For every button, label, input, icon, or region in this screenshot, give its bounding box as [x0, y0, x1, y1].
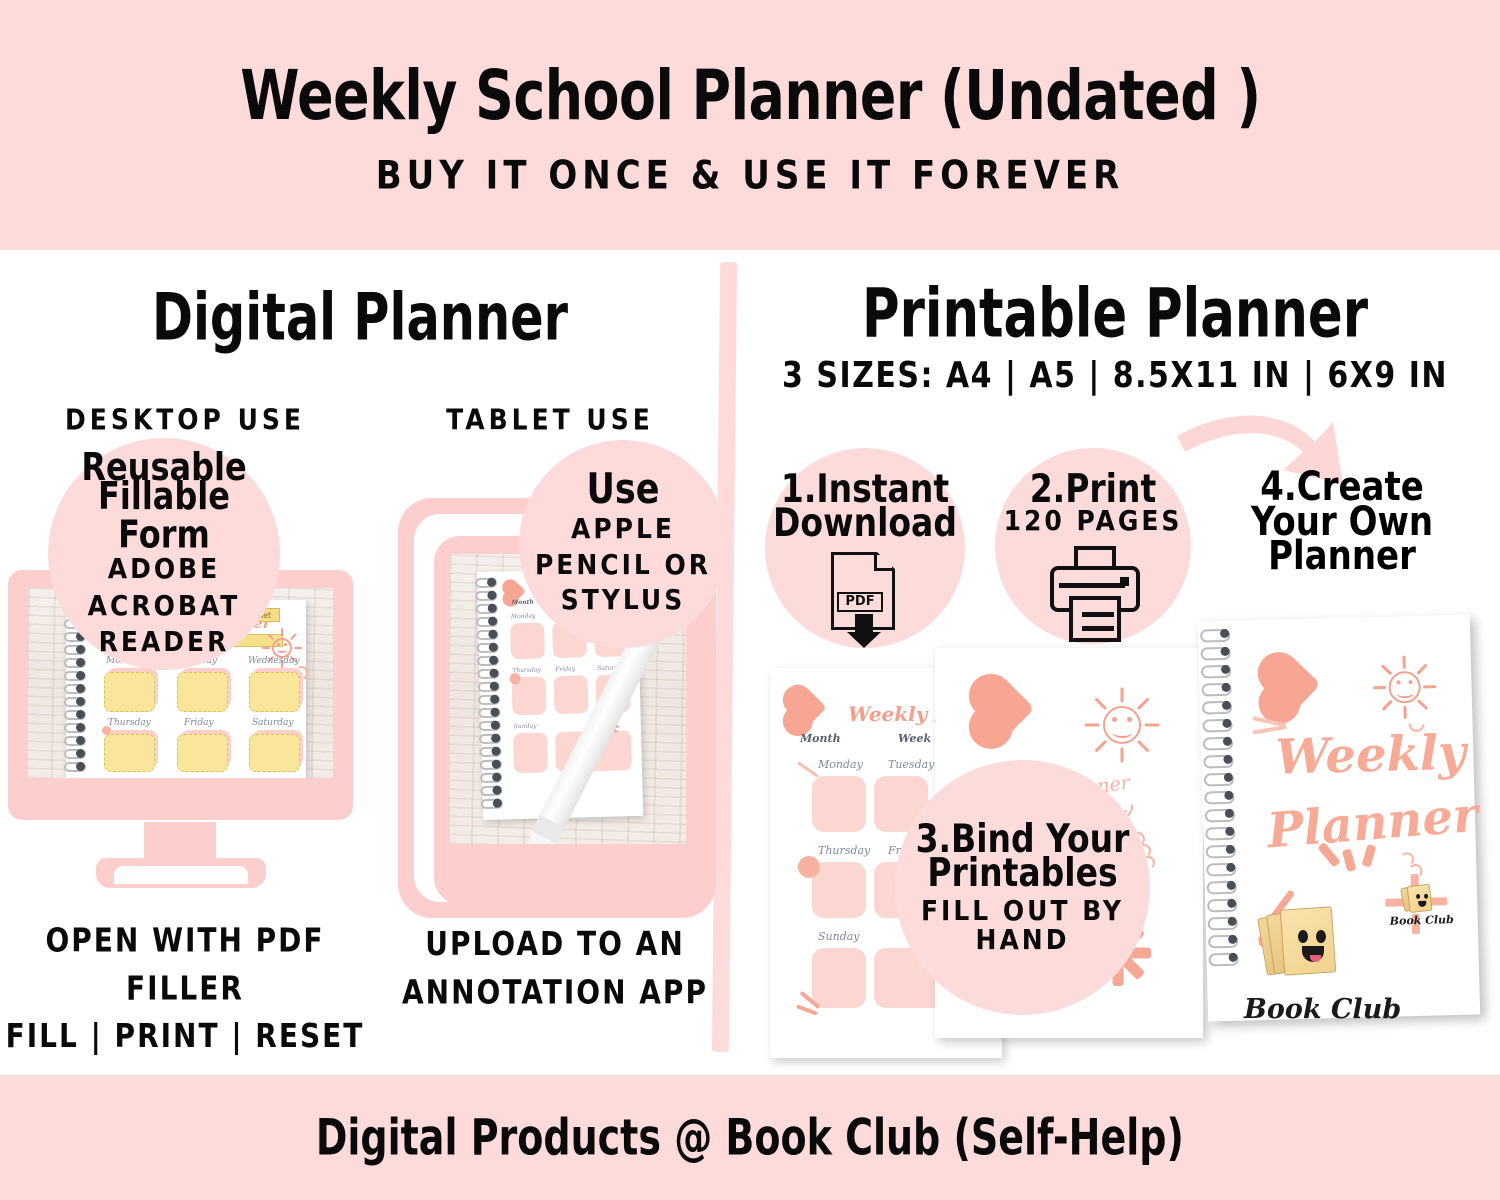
day-box[interactable] [104, 734, 155, 772]
scribble-doodle-icon [797, 761, 818, 777]
step-3-line-3: FILL OUT BY [921, 895, 1124, 927]
day-label: Monday [818, 758, 863, 771]
footer-text: Digital Products @ Book Club (Self-Help) [316, 1109, 1184, 1167]
pdf-download-icon: PDF [823, 552, 907, 644]
badge-line-3: ADOBE [108, 552, 221, 585]
badge-line-4: STYLUS [561, 583, 686, 616]
flower-doodle-icon [798, 856, 820, 878]
heart-doodle-icon [975, 680, 1034, 739]
step-1-instant-download: 1.Instant Download PDF [765, 448, 965, 648]
desktop-caption-line-2: FILL | PRINT | RESET [5, 1013, 365, 1061]
cover-brand-mark: Book Club [1387, 877, 1448, 937]
book-mascot-icon [1260, 900, 1344, 988]
digital-planner-title: Digital Planner [94, 281, 626, 356]
tablet-caption-line-2: ANNOTATION APP [395, 969, 715, 1017]
day-box[interactable] [177, 734, 228, 772]
month-field-label: Month [512, 599, 534, 607]
day-box[interactable] [104, 672, 155, 712]
step-4-line-3: Planner [1222, 536, 1462, 577]
day-box[interactable] [812, 948, 866, 1008]
day-box[interactable] [249, 672, 300, 712]
step-4-create-your-own-planner: 4.Create Your Own Planner [1222, 470, 1462, 574]
heart-doodle-icon [1264, 658, 1320, 715]
desktop-caption-line-1: OPEN WITH PDF FILLER [5, 917, 365, 1013]
day-label: Monday [511, 613, 536, 621]
tablet-home-button[interactable] [550, 860, 586, 896]
day-box[interactable] [812, 776, 866, 832]
day-label: Thursday [818, 844, 870, 857]
badge-line-3: PENCIL OR [535, 548, 711, 581]
badge-line-2: Fillable Form [48, 477, 280, 554]
tablet-use-label: TABLET USE [390, 403, 710, 436]
day-box[interactable] [554, 675, 589, 714]
tablet-caption: UPLOAD TO AN ANNOTATION APP [395, 921, 715, 1017]
apple-pencil-badge: Use APPLE PENCIL OR STYLUS [519, 440, 727, 648]
day-label: Thursday [108, 718, 151, 728]
heart-doodle-icon [787, 689, 827, 729]
cover-brand-label: Book Club [1390, 913, 1454, 928]
sun-doodle-icon [1083, 686, 1161, 764]
day-box[interactable] [812, 862, 866, 918]
monitor-base-inner [114, 866, 248, 884]
month-field-label: Month [800, 732, 841, 745]
badge-line-5: READER [99, 625, 230, 658]
footer-banner: Digital Products @ Book Club (Self-Help) [0, 1075, 1500, 1200]
step-2-print: 2.Print 120 PAGES [995, 448, 1191, 644]
product-listing-page: Weekly School Planner (Undated ) BUY IT … [0, 0, 1500, 1200]
reusable-fillable-badge: Reusable Fillable Form ADOBE ACROBAT REA… [48, 438, 280, 670]
printer-icon [1047, 546, 1143, 642]
day-label: Saturday [252, 718, 293, 728]
flower-doodle-icon [102, 726, 111, 735]
page-subtitle: BUY IT ONCE & USE IT FOREVER [376, 154, 1125, 200]
day-box[interactable] [177, 672, 228, 712]
printable-sizes-label: 3 SIZES: A4 | A5 | 8.5X11 IN | 6X9 IN [745, 355, 1485, 397]
step-2-pages: 120 PAGES [1004, 504, 1183, 536]
step-3-line-2: Printables [927, 853, 1117, 893]
day-label: Friday [184, 718, 214, 728]
day-label: Sunday [818, 930, 860, 943]
day-box[interactable] [510, 622, 545, 659]
pdf-label: PDF [837, 592, 883, 612]
day-label: Friday [555, 666, 575, 674]
badge-line-4: ACROBAT [88, 589, 241, 622]
day-label: Wednesday [248, 656, 300, 666]
desktop-use-label: DESKTOP USE [20, 403, 350, 436]
book-club-label: Book Club [1244, 994, 1401, 1025]
tablet-caption-line-1: UPLOAD TO AN [395, 921, 715, 969]
notebook-title-line-1: Weekly [1275, 725, 1467, 786]
book-mascot-icon [1401, 882, 1436, 917]
day-box[interactable] [249, 734, 300, 772]
sun-doodle-icon [1371, 653, 1439, 721]
day-label: Tuesday [888, 758, 934, 771]
step-2-line-1: 2.Print [1030, 469, 1157, 509]
step-1-line-2: Download [773, 503, 957, 543]
day-label: Sunday [514, 723, 537, 731]
step-3-bind-printables: 3.Bind Your Printables FILL OUT BY HAND [895, 760, 1150, 1015]
badge-line-1: Use [587, 470, 660, 512]
spiral-binding [475, 572, 507, 821]
day-box[interactable] [513, 732, 548, 773]
week-field-label: Week [898, 732, 931, 745]
step-3-line-4: HAND [976, 924, 1070, 956]
printable-planner-title: Printable Planner [764, 274, 1467, 353]
badge-line-2: APPLE [571, 512, 675, 545]
header-banner: Weekly School Planner (Undated ) BUY IT … [0, 0, 1500, 250]
page-title: Weekly School Planner (Undated ) [240, 61, 1260, 133]
book-club-logo: Book Club [1238, 898, 1378, 1048]
desktop-caption: OPEN WITH PDF FILLER FILL | PRINT | RESE… [5, 917, 365, 1061]
